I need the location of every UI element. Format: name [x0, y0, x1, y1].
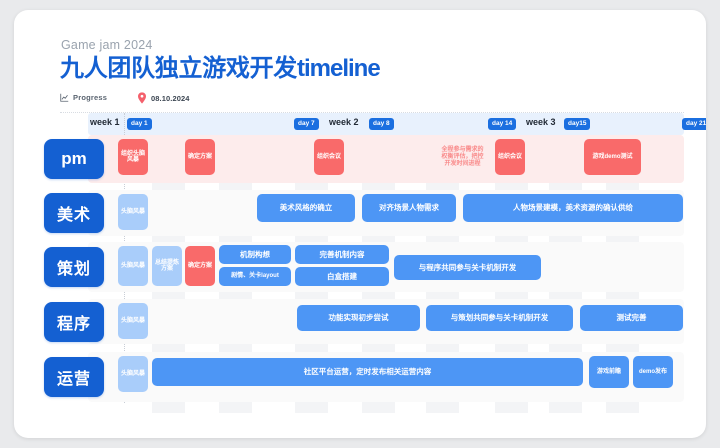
row-label-operations[interactable]: 运营 — [44, 357, 104, 397]
task-bar[interactable]: 完善机制内容 — [295, 245, 389, 264]
row-label-pm[interactable]: pm — [44, 139, 104, 179]
task-bar[interactable]: 全程参与需求的权衡评估，把控开发时间进程 — [437, 137, 488, 177]
progress-icon — [60, 93, 69, 102]
task-bar[interactable]: 头脑风暴 — [118, 356, 148, 392]
task-bar[interactable]: demo发布 — [633, 356, 673, 388]
timeline-card: Game jam 2024 九人团队独立游戏开发timeline Progres… — [14, 10, 706, 438]
task-bar[interactable]: 头脑风暴 — [118, 303, 148, 339]
task-bar[interactable]: 测试完善 — [580, 305, 683, 331]
task-bar[interactable]: 头脑风暴 — [118, 194, 148, 230]
row-label-art[interactable]: 美术 — [44, 193, 104, 233]
day-chip[interactable]: day 14 — [488, 118, 516, 130]
task-bar[interactable]: 白盒搭建 — [295, 267, 389, 286]
task-bar[interactable]: 功能实现初步尝试 — [297, 305, 420, 331]
task-bar[interactable]: 剧情、关卡layout — [219, 267, 291, 286]
task-bar[interactable]: 社区平台运营，定时发布相关运营内容 — [152, 358, 583, 386]
pin-date-label: 08.10.2024 — [151, 94, 190, 103]
page-title: 九人团队独立游戏开发timeline — [60, 55, 684, 83]
map-pin-icon — [138, 92, 146, 104]
week-label-1: week 1 — [90, 117, 120, 127]
page-title-en: timeline — [297, 55, 380, 82]
gantt-row-operations: 运营头脑风暴社区平台运营，定时发布相关运营内容游戏前瞻demo发布 — [44, 352, 684, 402]
date-marker: 08.10.2024 — [138, 92, 190, 104]
task-bar[interactable]: 与策划共同参与关卡机制开发 — [426, 305, 573, 331]
task-bar[interactable]: 总结提炼方案 — [152, 246, 182, 286]
progress-indicator: Progress — [60, 93, 107, 102]
row-label-programming[interactable]: 程序 — [44, 302, 104, 342]
gantt-row-pm: pm组织头脑风暴确定方案组织会议全程参与需求的权衡评估，把控开发时间进程组织会议… — [44, 135, 684, 183]
task-bar[interactable]: 头脑风暴 — [118, 246, 148, 286]
task-bar[interactable]: 组织会议 — [495, 139, 525, 175]
day-chip[interactable]: day 8 — [369, 118, 394, 130]
meta-bar: Progress 08.10.2024 — [60, 92, 684, 113]
day-chip[interactable]: day 1 — [127, 118, 152, 130]
day-chip[interactable]: day 21 — [682, 118, 706, 130]
task-bar[interactable]: 机制构想 — [219, 245, 291, 264]
progress-label: Progress — [73, 93, 107, 102]
day-chip[interactable]: day 7 — [294, 118, 319, 130]
task-bar[interactable]: 美术风格的确立 — [257, 194, 355, 222]
task-bar[interactable]: 组织会议 — [314, 139, 344, 175]
gantt-row-art: 美术头脑风暴美术风格的确立对齐场景人物需求人物场景建模，美术资源的确认供给 — [44, 190, 684, 236]
page-title-cn: 九人团队独立游戏开发 — [60, 55, 297, 82]
time-ruler: week 1week 2week 3day 1day 7day 8day 14d… — [44, 113, 684, 135]
task-bar[interactable]: 与程序共同参与关卡机制开发 — [394, 255, 541, 280]
eyebrow-label: Game jam 2024 — [61, 38, 684, 52]
timeline-content: Game jam 2024 九人团队独立游戏开发timeline Progres… — [44, 38, 684, 413]
row-label-planning[interactable]: 策划 — [44, 247, 104, 287]
task-bar[interactable]: 确定方案 — [185, 246, 215, 286]
day-chip[interactable]: day15 — [564, 118, 590, 130]
task-bar[interactable]: 对齐场景人物需求 — [362, 194, 456, 222]
task-bar[interactable]: 游戏demo测试 — [584, 139, 641, 175]
gantt-row-programming: 程序头脑风暴功能实现初步尝试与策划共同参与关卡机制开发测试完善 — [44, 299, 684, 344]
week-label-2: week 2 — [329, 117, 359, 127]
gantt-grid: week 1week 2week 3day 1day 7day 8day 14d… — [44, 113, 684, 413]
task-bar[interactable]: 组织头脑风暴 — [118, 139, 148, 175]
gantt-row-planning: 策划头脑风暴总结提炼方案确定方案机制构想剧情、关卡layout完善机制内容白盒搭… — [44, 242, 684, 292]
task-bar[interactable]: 确定方案 — [185, 139, 215, 175]
week-label-3: week 3 — [526, 117, 556, 127]
task-bar[interactable]: 人物场景建模，美术资源的确认供给 — [463, 194, 683, 222]
task-bar[interactable]: 游戏前瞻 — [589, 356, 629, 388]
